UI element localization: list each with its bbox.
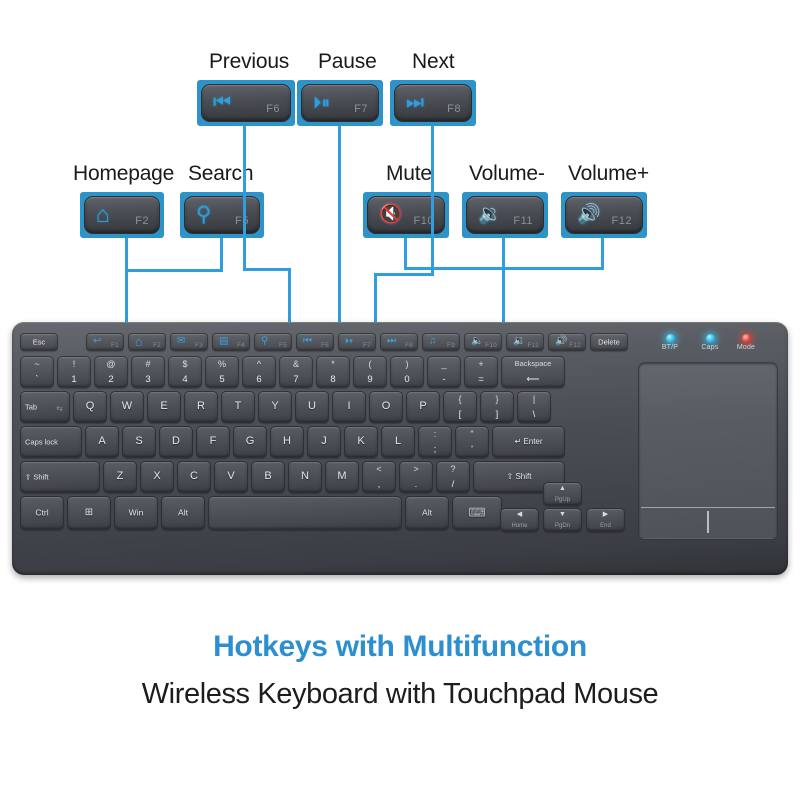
key-f11-volume-down[interactable]: 🔉 F11 [506, 333, 544, 351]
callout-key-next-fkey: F8 [447, 103, 461, 115]
touchpad[interactable] [638, 362, 778, 540]
callout-key-next-cap: ⏭ F8 [394, 84, 472, 122]
touchpad-button-divider [641, 507, 775, 508]
key-f8-next[interactable]: ⏭ F8 [380, 333, 418, 351]
indicator-mode: Mode [726, 334, 766, 351]
callout-key-volume-down[interactable]: 🔉 F11 [462, 192, 548, 238]
connector-previous-seg2 [243, 126, 246, 271]
keyboard-icon: ⌨ [453, 507, 501, 520]
connector-previous-seg3 [243, 268, 291, 271]
music-note-icon: ♫ [429, 337, 437, 347]
key-slash[interactable]: ? / [436, 461, 470, 493]
connector-volume-up-seg2 [503, 267, 603, 270]
callout-key-pause[interactable]: ⏵⏸ F7 [297, 80, 383, 126]
key-fn-left[interactable]: ⊞ [67, 496, 111, 530]
keyboard-body: Esc ↩ F1 ⌂ F2 ✉ F3 ▤ F4 ⚲ F5 ⏮ F6 ⏵⏸ F7 [12, 322, 788, 575]
key-digit-6[interactable]: ^ 6 [242, 356, 276, 388]
key-q[interactable]: Q [73, 391, 107, 423]
mail-icon: ✉ [177, 337, 185, 347]
key-semicolon[interactable]: : ; [418, 426, 452, 458]
arrow-left-icon: ◀ [501, 511, 538, 518]
key-w[interactable]: W [110, 391, 144, 423]
connector-next-seg2 [431, 126, 434, 276]
key-f[interactable]: F [196, 426, 230, 458]
fn-icon: ⊞ [68, 508, 110, 519]
connector-search-seg1 [220, 238, 223, 272]
key-y[interactable]: Y [258, 391, 292, 423]
search-icon: ⚲ [261, 337, 268, 347]
mute-icon: 🔈 [471, 337, 483, 347]
callout-key-homepage-cap: ⌂ F2 [84, 196, 160, 234]
arrow-down-icon: ▼ [544, 511, 581, 518]
callout-label-previous: Previous [209, 50, 289, 74]
key-caps-lock[interactable]: Caps lock [20, 426, 82, 458]
callout-label-mute: Mute [386, 162, 432, 186]
key-equal[interactable]: + = [464, 356, 498, 388]
prev-track-icon: ⏮ [213, 93, 231, 113]
key-ctrl-left[interactable]: Ctrl [20, 496, 64, 530]
key-esc[interactable]: Esc [20, 333, 58, 351]
key-digit-5[interactable]: % 5 [205, 356, 239, 388]
play-pause-icon: ⏵⏸ [345, 338, 353, 346]
key-e[interactable]: E [147, 391, 181, 423]
key-space[interactable] [208, 496, 402, 530]
key-shift-left[interactable]: ⇧ Shift [20, 461, 100, 493]
key-alt-left[interactable]: Alt [161, 496, 205, 530]
indicator-bluetooth-pair: BT/P [650, 334, 690, 351]
callout-label-pause: Pause [318, 50, 377, 74]
callout-key-volume-down-cap: 🔉 F11 [466, 196, 544, 234]
arrow-up-icon: ▲ [544, 485, 581, 492]
key-m[interactable]: M [325, 461, 359, 493]
mute-icon: 🔇 [379, 205, 403, 224]
callout-label-volume-up: Volume+ [568, 162, 649, 186]
key-a[interactable]: A [85, 426, 119, 458]
computer-icon: ▤ [219, 337, 228, 347]
volume-down-icon: 🔉 [513, 337, 525, 347]
key-period[interactable]: > . [399, 461, 433, 493]
key-digit-4[interactable]: $ 4 [168, 356, 202, 388]
key-g[interactable]: G [233, 426, 267, 458]
key-arrow-right[interactable]: ▶ End [586, 508, 625, 532]
key-f10-mute[interactable]: 🔈 F10 [464, 333, 502, 351]
key-i[interactable]: I [332, 391, 366, 423]
key-c[interactable]: C [177, 461, 211, 493]
next-track-icon: ⏭ [387, 337, 396, 347]
key-s[interactable]: S [122, 426, 156, 458]
callout-key-previous[interactable]: ⏮ F6 [197, 80, 295, 126]
key-bracket-right[interactable]: } ] [480, 391, 514, 423]
home-icon: ⌂ [135, 335, 142, 347]
callout-key-search-cap: ⚲ F5 [184, 196, 260, 234]
key-backquote[interactable]: ~ ` [20, 356, 54, 388]
key-h[interactable]: H [270, 426, 304, 458]
key-x[interactable]: X [140, 461, 174, 493]
connector-next-seg3 [374, 273, 434, 276]
key-digit-7[interactable]: & 7 [279, 356, 313, 388]
connector-pause [338, 126, 341, 348]
mode-led [742, 334, 751, 343]
key-f7-play-pause[interactable]: ⏵⏸ F7 [338, 333, 376, 351]
key-tab[interactable]: Tab ⇆ [20, 391, 70, 423]
connector-mute-seg2 [404, 267, 504, 270]
key-fn-right[interactable]: ⌨ [452, 496, 502, 530]
key-z[interactable]: Z [103, 461, 137, 493]
shift-arrow-icon: ⇧ [25, 473, 31, 482]
key-f2-homepage[interactable]: ⌂ F2 [128, 333, 166, 351]
key-n[interactable]: N [288, 461, 322, 493]
key-backslash[interactable]: | \ [517, 391, 551, 423]
prev-track-icon: ⏮ [303, 337, 312, 347]
connector-search-seg2 [126, 269, 222, 272]
key-f6-previous[interactable]: ⏮ F6 [296, 333, 334, 351]
key-u[interactable]: U [295, 391, 329, 423]
play-pause-icon: ⏵⏸ [313, 94, 330, 111]
key-d[interactable]: D [159, 426, 193, 458]
backspace-arrow-icon: ⟵ [502, 375, 564, 384]
callout-key-previous-cap: ⏮ F6 [201, 84, 291, 122]
tab-arrows-icon: ⇆ [56, 404, 63, 413]
bluetooth-pair-led [666, 334, 675, 343]
callout-key-volume-up-fkey: F12 [612, 215, 632, 227]
key-arrow-up[interactable]: ▲ PgUp [543, 482, 582, 506]
key-digit-0[interactable]: ) 0 [390, 356, 424, 388]
key-digit-8[interactable]: * 8 [316, 356, 350, 388]
callout-label-homepage: Homepage [73, 162, 174, 186]
key-f12-volume-up[interactable]: 🔊 F12 [548, 333, 586, 351]
key-delete[interactable]: Delete [590, 333, 628, 351]
indicator-caps-lock: Caps [690, 334, 730, 351]
caps-lock-led [706, 334, 715, 343]
callout-key-homepage[interactable]: ⌂ F2 [80, 192, 164, 238]
page-headline: Hotkeys with Multifunction [0, 630, 800, 664]
volume-up-icon: 🔊 [555, 337, 567, 347]
callout-key-search[interactable]: ⚲ F5 [180, 192, 264, 238]
back-arrow-icon: ↩ [93, 337, 101, 347]
key-bracket-left[interactable]: { [ [443, 391, 477, 423]
page-subheadline: Wireless Keyboard with Touchpad Mouse [0, 678, 800, 711]
callout-key-volume-down-fkey: F11 [513, 215, 533, 227]
key-t[interactable]: T [221, 391, 255, 423]
key-arrow-left[interactable]: ◀ Home [500, 508, 539, 532]
key-comma[interactable]: < , [362, 461, 396, 493]
key-win[interactable]: Win [114, 496, 158, 530]
key-minus[interactable]: _ - [427, 356, 461, 388]
home-icon: ⌂ [96, 203, 110, 226]
volume-down-icon: 🔉 [478, 205, 502, 224]
key-b[interactable]: B [251, 461, 285, 493]
shift-arrow-icon: ⇧ [507, 472, 514, 481]
callout-key-pause-fkey: F7 [354, 103, 368, 115]
key-arrow-down[interactable]: ▼ PgDn [543, 508, 582, 532]
callout-label-next: Next [412, 50, 454, 74]
key-digit-3[interactable]: # 3 [131, 356, 165, 388]
key-r[interactable]: R [184, 391, 218, 423]
key-f9-media[interactable]: ♫ F9 [422, 333, 460, 351]
key-backspace[interactable]: Backspace ⟵ [501, 356, 565, 388]
callout-key-next[interactable]: ⏭ F8 [390, 80, 476, 126]
key-o[interactable]: O [369, 391, 403, 423]
key-f5-search[interactable]: ⚲ F5 [254, 333, 292, 351]
search-icon: ⚲ [196, 204, 211, 225]
next-track-icon: ⏭ [406, 93, 424, 113]
key-alt-right[interactable]: Alt [405, 496, 449, 530]
callout-key-previous-fkey: F6 [266, 103, 280, 115]
key-f4-computer[interactable]: ▤ F4 [212, 333, 250, 351]
key-digit-1[interactable]: ! 1 [57, 356, 91, 388]
key-quote[interactable]: " ' [455, 426, 489, 458]
key-f3-mail[interactable]: ✉ F3 [170, 333, 208, 351]
infographic-canvas: Previous Pause Next ⏮ F6 ⏵⏸ F7 ⏭ F8 Home… [0, 0, 800, 800]
callout-key-mute[interactable]: 🔇 F10 [363, 192, 449, 238]
key-k[interactable]: K [344, 426, 378, 458]
key-f1-back[interactable]: ↩ F1 [86, 333, 124, 351]
key-j[interactable]: J [307, 426, 341, 458]
callout-label-volume-down: Volume- [469, 162, 545, 186]
callout-key-volume-up-cap: 🔊 F12 [565, 196, 643, 234]
connector-volume-up-seg1 [601, 238, 604, 270]
callout-key-pause-cap: ⏵⏸ F7 [301, 84, 379, 122]
key-v[interactable]: V [214, 461, 248, 493]
volume-up-icon: 🔊 [577, 205, 601, 224]
connector-mute-seg1 [404, 238, 407, 270]
key-l[interactable]: L [381, 426, 415, 458]
arrow-right-icon: ▶ [587, 511, 624, 518]
callout-key-volume-up[interactable]: 🔊 F12 [561, 192, 647, 238]
key-enter[interactable]: ↵ Enter [492, 426, 565, 458]
key-digit-2[interactable]: @ 2 [94, 356, 128, 388]
key-p[interactable]: P [406, 391, 440, 423]
key-digit-9[interactable]: ( 9 [353, 356, 387, 388]
touchpad-button-separator [707, 511, 709, 533]
callout-key-homepage-fkey: F2 [135, 215, 149, 227]
